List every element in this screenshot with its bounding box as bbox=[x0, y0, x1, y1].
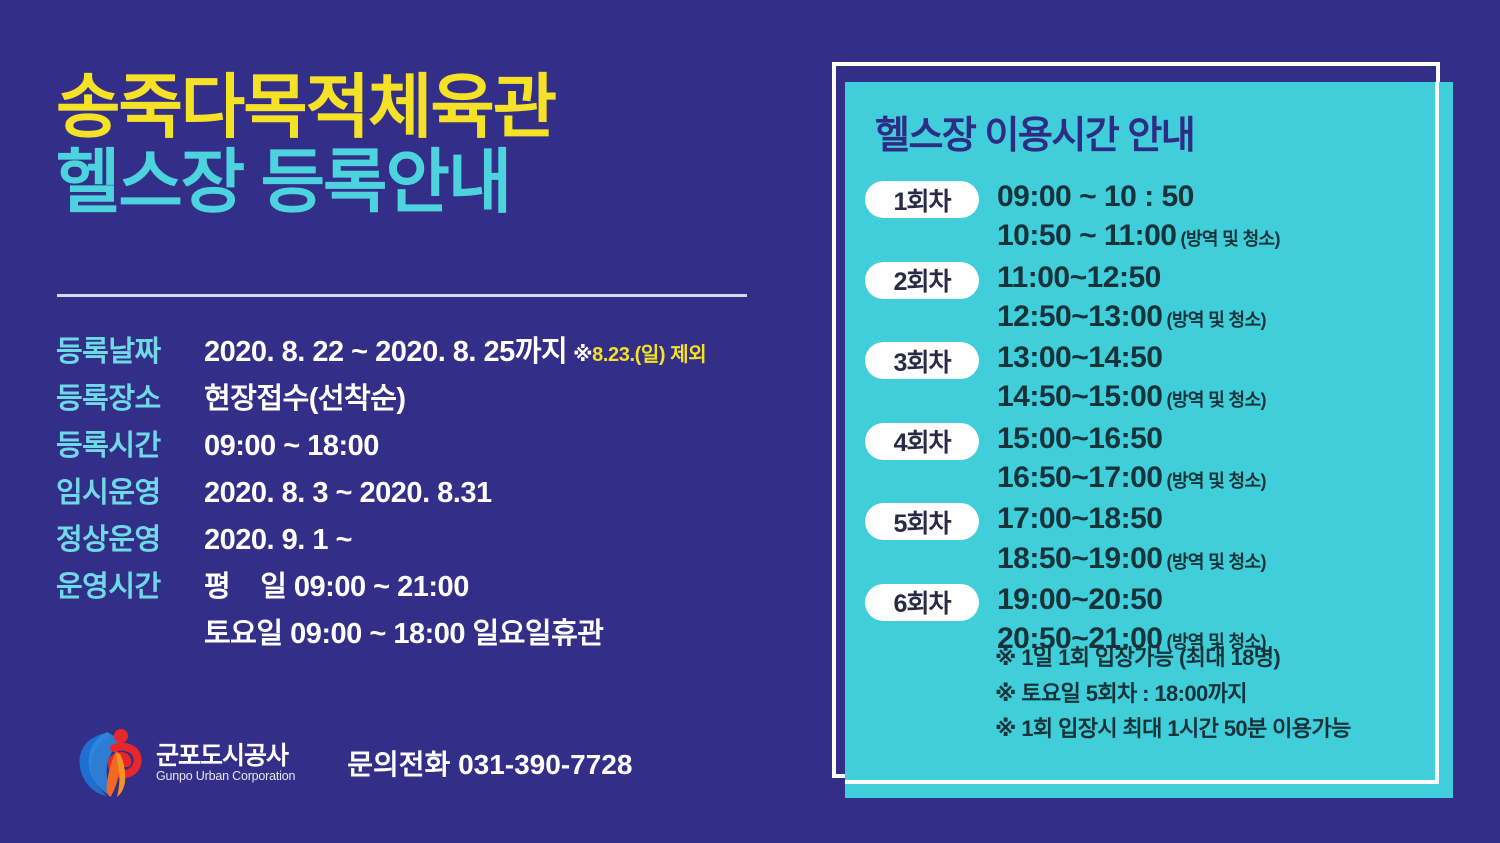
info-label: 임시운영 bbox=[56, 469, 204, 511]
info-value: 09:00 ~ 18:00 bbox=[204, 430, 379, 463]
info-value-text: 2020. 8. 22 ~ 2020. 8. 25까지 bbox=[204, 336, 567, 368]
session-badge: 6회차 bbox=[865, 584, 979, 621]
info-label: 등록장소 bbox=[56, 375, 204, 417]
session-badge: 2회차 bbox=[865, 262, 979, 299]
info-label: 정상운영 bbox=[56, 516, 204, 558]
session-times: 09:00 ~ 10 : 50 10:50 ~ 11:00(방역 및 청소) bbox=[997, 177, 1280, 256]
logo-name-ko: 군포도시공사 bbox=[156, 743, 295, 769]
asterisk-icon: ※ bbox=[573, 344, 592, 366]
info-value: 2020. 8. 22 ~ 2020. 8. 25까지※8.23.(일) 제외 bbox=[204, 328, 706, 370]
footnote: ※ 1회 입장시 최대 1시간 50분 이용가능 bbox=[995, 711, 1351, 747]
session-cleaning-range: 12:50~13:00 bbox=[997, 300, 1162, 333]
gunpo-urban-corporation-logo-icon bbox=[74, 726, 150, 800]
footnote: ※ 토요일 5회차 : 18:00까지 bbox=[995, 676, 1351, 712]
weekday-hours: 일 09:00 ~ 21:00 bbox=[260, 571, 469, 603]
session-badge: 1회차 bbox=[865, 181, 979, 218]
info-value: 평일 09:00 ~ 21:00 bbox=[204, 563, 469, 605]
session-badge: 5회차 bbox=[865, 503, 979, 540]
session-row: 5회차 17:00~18:50 18:50~19:00(방역 및 청소) bbox=[865, 499, 1435, 578]
session-times: 17:00~18:50 18:50~19:00(방역 및 청소) bbox=[997, 499, 1266, 578]
session-cleaning-time: 16:50~17:00(방역 및 청소) bbox=[997, 459, 1266, 497]
cleaning-label: (방역 및 청소) bbox=[1166, 471, 1265, 491]
panel-title: 헬스장 이용시간 안내 bbox=[875, 104, 1194, 159]
page-title-secondary: 헬스장 등록안내 bbox=[56, 143, 816, 221]
info-value: 토요일 09:00 ~ 18:00 일요일휴관 bbox=[204, 610, 603, 652]
weekday-word: 평 bbox=[204, 571, 230, 603]
info-label: 등록날짜 bbox=[56, 328, 204, 370]
title-divider bbox=[57, 294, 747, 297]
session-times: 15:00~16:50 16:50~17:00(방역 및 청소) bbox=[997, 419, 1266, 498]
info-row-registration-date: 등록날짜 2020. 8. 22 ~ 2020. 8. 25까지※8.23.(일… bbox=[56, 328, 856, 375]
info-row-registration-time: 등록시간 09:00 ~ 18:00 bbox=[56, 422, 856, 469]
session-cleaning-range: 10:50 ~ 11:00 bbox=[997, 219, 1177, 252]
panel-inner-border-bottom bbox=[845, 780, 1439, 784]
session-row: 4회차 15:00~16:50 16:50~17:00(방역 및 청소) bbox=[865, 419, 1435, 498]
session-main-time: 09:00 ~ 10 : 50 bbox=[997, 177, 1280, 217]
title-block: 송죽다목적체육관 헬스장 등록안내 bbox=[56, 72, 816, 222]
session-main-time: 13:00~14:50 bbox=[997, 338, 1266, 378]
session-main-time: 19:00~20:50 bbox=[997, 580, 1266, 620]
cleaning-label: (방역 및 청소) bbox=[1166, 552, 1265, 572]
session-cleaning-time: 18:50~19:00(방역 및 청소) bbox=[997, 540, 1266, 578]
session-row: 3회차 13:00~14:50 14:50~15:00(방역 및 청소) bbox=[865, 338, 1435, 417]
panel-footnotes: ※ 1일 1회 입장가능 (최대 18명) ※ 토요일 5회차 : 18:00까… bbox=[995, 640, 1351, 747]
cleaning-label: (방역 및 청소) bbox=[1181, 229, 1280, 249]
session-cleaning-time: 10:50 ~ 11:00(방역 및 청소) bbox=[997, 217, 1280, 255]
cleaning-label: (방역 및 청소) bbox=[1166, 310, 1265, 330]
info-row-normal-operation: 정상운영 2020. 9. 1 ~ bbox=[56, 516, 856, 563]
session-cleaning-range: 16:50~17:00 bbox=[997, 461, 1162, 494]
info-label: 등록시간 bbox=[56, 422, 204, 464]
info-row-operating-hours-weekday: 운영시간 평일 09:00 ~ 21:00 bbox=[56, 563, 856, 610]
cleaning-label: (방역 및 청소) bbox=[1166, 390, 1265, 410]
session-badge: 3회차 bbox=[865, 342, 979, 379]
info-value: 2020. 9. 1 ~ bbox=[204, 524, 352, 557]
usage-hours-panel: 헬스장 이용시간 안내 1회차 09:00 ~ 10 : 50 10:50 ~ … bbox=[845, 82, 1453, 798]
session-cleaning-range: 14:50~15:00 bbox=[997, 380, 1162, 413]
info-row-temporary-operation: 임시운영 2020. 8. 3 ~ 2020. 8.31 bbox=[56, 469, 856, 516]
session-main-time: 11:00~12:50 bbox=[997, 258, 1266, 298]
info-row-operating-hours-saturday: 토요일 09:00 ~ 18:00 일요일휴관 bbox=[56, 610, 856, 657]
contact-phone: 문의전화 031-390-7728 bbox=[347, 743, 632, 783]
session-badge: 4회차 bbox=[865, 423, 979, 460]
registration-info-list: 등록날짜 2020. 8. 22 ~ 2020. 8. 25까지※8.23.(일… bbox=[56, 328, 856, 657]
session-times: 13:00~14:50 14:50~15:00(방역 및 청소) bbox=[997, 338, 1266, 417]
session-cleaning-time: 12:50~13:00(방역 및 청소) bbox=[997, 298, 1266, 336]
logo-wordmark: 군포도시공사 Gunpo Urban Corporation bbox=[156, 743, 295, 782]
info-row-registration-place: 등록장소 현장접수(선착순) bbox=[56, 375, 856, 422]
panel-inner-border-right bbox=[1435, 82, 1439, 784]
session-cleaning-range: 18:50~19:00 bbox=[997, 542, 1162, 575]
info-value: 현장접수(선착순) bbox=[204, 375, 406, 417]
session-main-time: 15:00~16:50 bbox=[997, 419, 1266, 459]
session-row: 1회차 09:00 ~ 10 : 50 10:50 ~ 11:00(방역 및 청… bbox=[865, 177, 1435, 256]
session-cleaning-time: 14:50~15:00(방역 및 청소) bbox=[997, 378, 1266, 416]
footer-branding: 군포도시공사 Gunpo Urban Corporation 문의전화 031-… bbox=[74, 726, 632, 800]
session-row: 2회차 11:00~12:50 12:50~13:00(방역 및 청소) bbox=[865, 258, 1435, 337]
footnote: ※ 1일 1회 입장가능 (최대 18명) bbox=[995, 640, 1351, 676]
session-schedule-list: 1회차 09:00 ~ 10 : 50 10:50 ~ 11:00(방역 및 청… bbox=[865, 177, 1435, 660]
info-label: 운영시간 bbox=[56, 563, 204, 605]
page-title-primary: 송죽다목적체육관 bbox=[56, 72, 816, 143]
session-times: 11:00~12:50 12:50~13:00(방역 및 청소) bbox=[997, 258, 1266, 337]
session-main-time: 17:00~18:50 bbox=[997, 499, 1266, 539]
info-value: 2020. 8. 3 ~ 2020. 8.31 bbox=[204, 477, 492, 510]
info-note-exclusion: 8.23.(일) 제외 bbox=[592, 344, 706, 366]
poster-root: 송죽다목적체육관 헬스장 등록안내 등록날짜 2020. 8. 22 ~ 202… bbox=[0, 0, 1500, 843]
logo-name-en: Gunpo Urban Corporation bbox=[156, 770, 295, 783]
